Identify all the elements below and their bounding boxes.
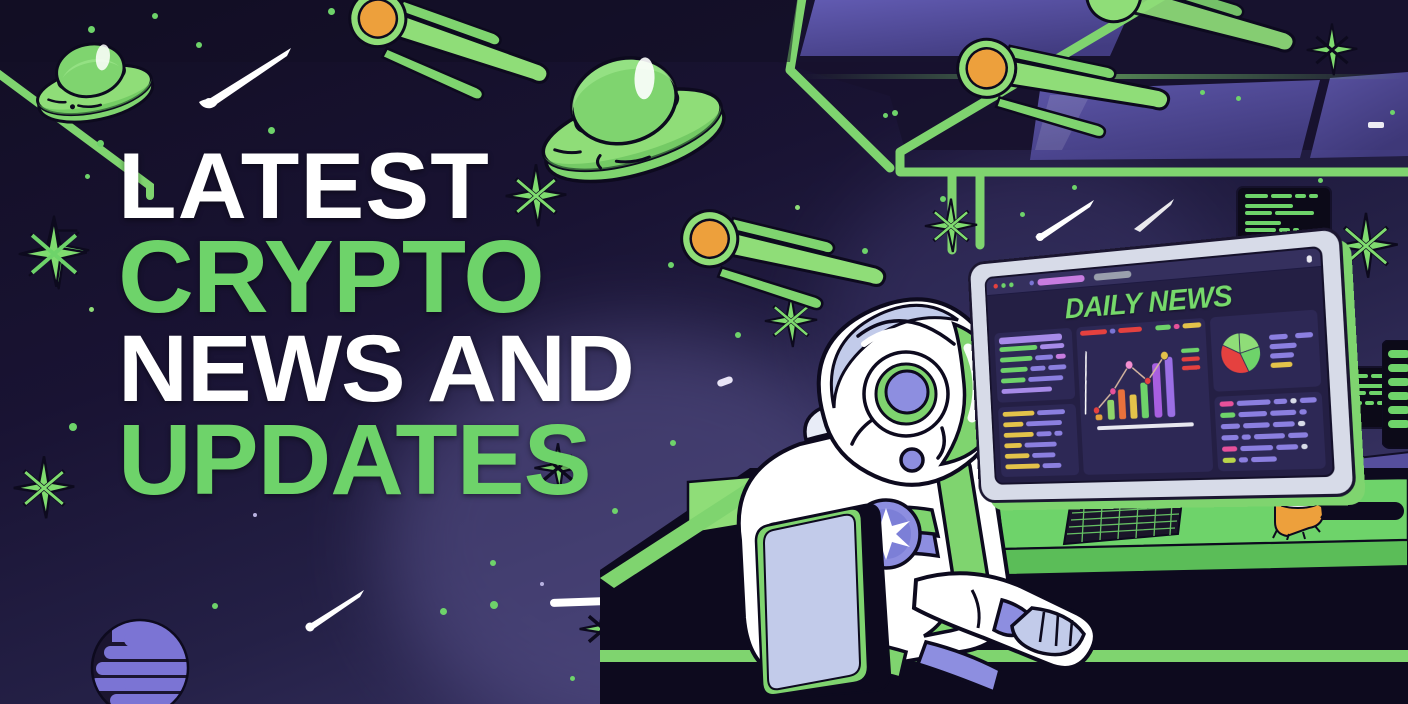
monitor[interactable]: DAILY NEWS — [955, 245, 1345, 500]
monitor-bezel: DAILY NEWS — [967, 226, 1356, 503]
combined-chart — [1081, 334, 1206, 422]
stats-card-top[interactable] — [994, 328, 1075, 403]
browser-dot-red[interactable] — [993, 284, 998, 289]
planet-icon — [88, 612, 193, 704]
headline-line-4: UPDATES — [118, 414, 634, 507]
shooting-star-icon — [1030, 195, 1100, 248]
comet-icon — [330, 0, 560, 132]
ufo-icon — [28, 28, 158, 133]
chart-legend — [1181, 348, 1201, 371]
comet-icon — [940, 20, 1180, 180]
data-table-card[interactable] — [1214, 392, 1326, 472]
stats-card-bottom[interactable] — [998, 404, 1080, 477]
dashboard-left-column — [994, 328, 1079, 477]
allocation-pie — [1215, 328, 1264, 378]
pie-card[interactable] — [1210, 310, 1322, 392]
browser-back-dot[interactable] — [1029, 280, 1034, 285]
crypto-news-banner: LATEST CRYPTO NEWS AND UPDATES — [0, 0, 1408, 704]
volume-bars — [1093, 357, 1176, 421]
pie-legend — [1268, 315, 1316, 383]
shooting-star-icon — [1130, 195, 1180, 240]
headline-block: LATEST CRYPTO NEWS AND UPDATES — [118, 142, 624, 507]
shooting-star-icon — [300, 585, 370, 638]
dashboard-right-column — [1210, 310, 1326, 472]
browser-url-pill[interactable] — [1037, 275, 1084, 286]
dashboard — [989, 309, 1333, 483]
browser-tab-pill[interactable] — [1094, 271, 1132, 281]
shooting-star-icon — [195, 42, 300, 117]
headline-line-3: NEWS AND — [118, 325, 634, 413]
chair-icon — [740, 495, 900, 704]
browser-dot-green[interactable] — [1009, 282, 1014, 287]
monitor-screen[interactable]: DAILY NEWS — [984, 246, 1335, 485]
browser-dot-green[interactable] — [1001, 283, 1006, 288]
keyboard-icon — [1062, 500, 1187, 557]
headline-line-1: LATEST — [118, 142, 634, 229]
chart-card[interactable] — [1076, 318, 1213, 475]
headline-line-2: CRYPTO — [118, 229, 634, 325]
chart-scrollbar — [1097, 422, 1194, 430]
